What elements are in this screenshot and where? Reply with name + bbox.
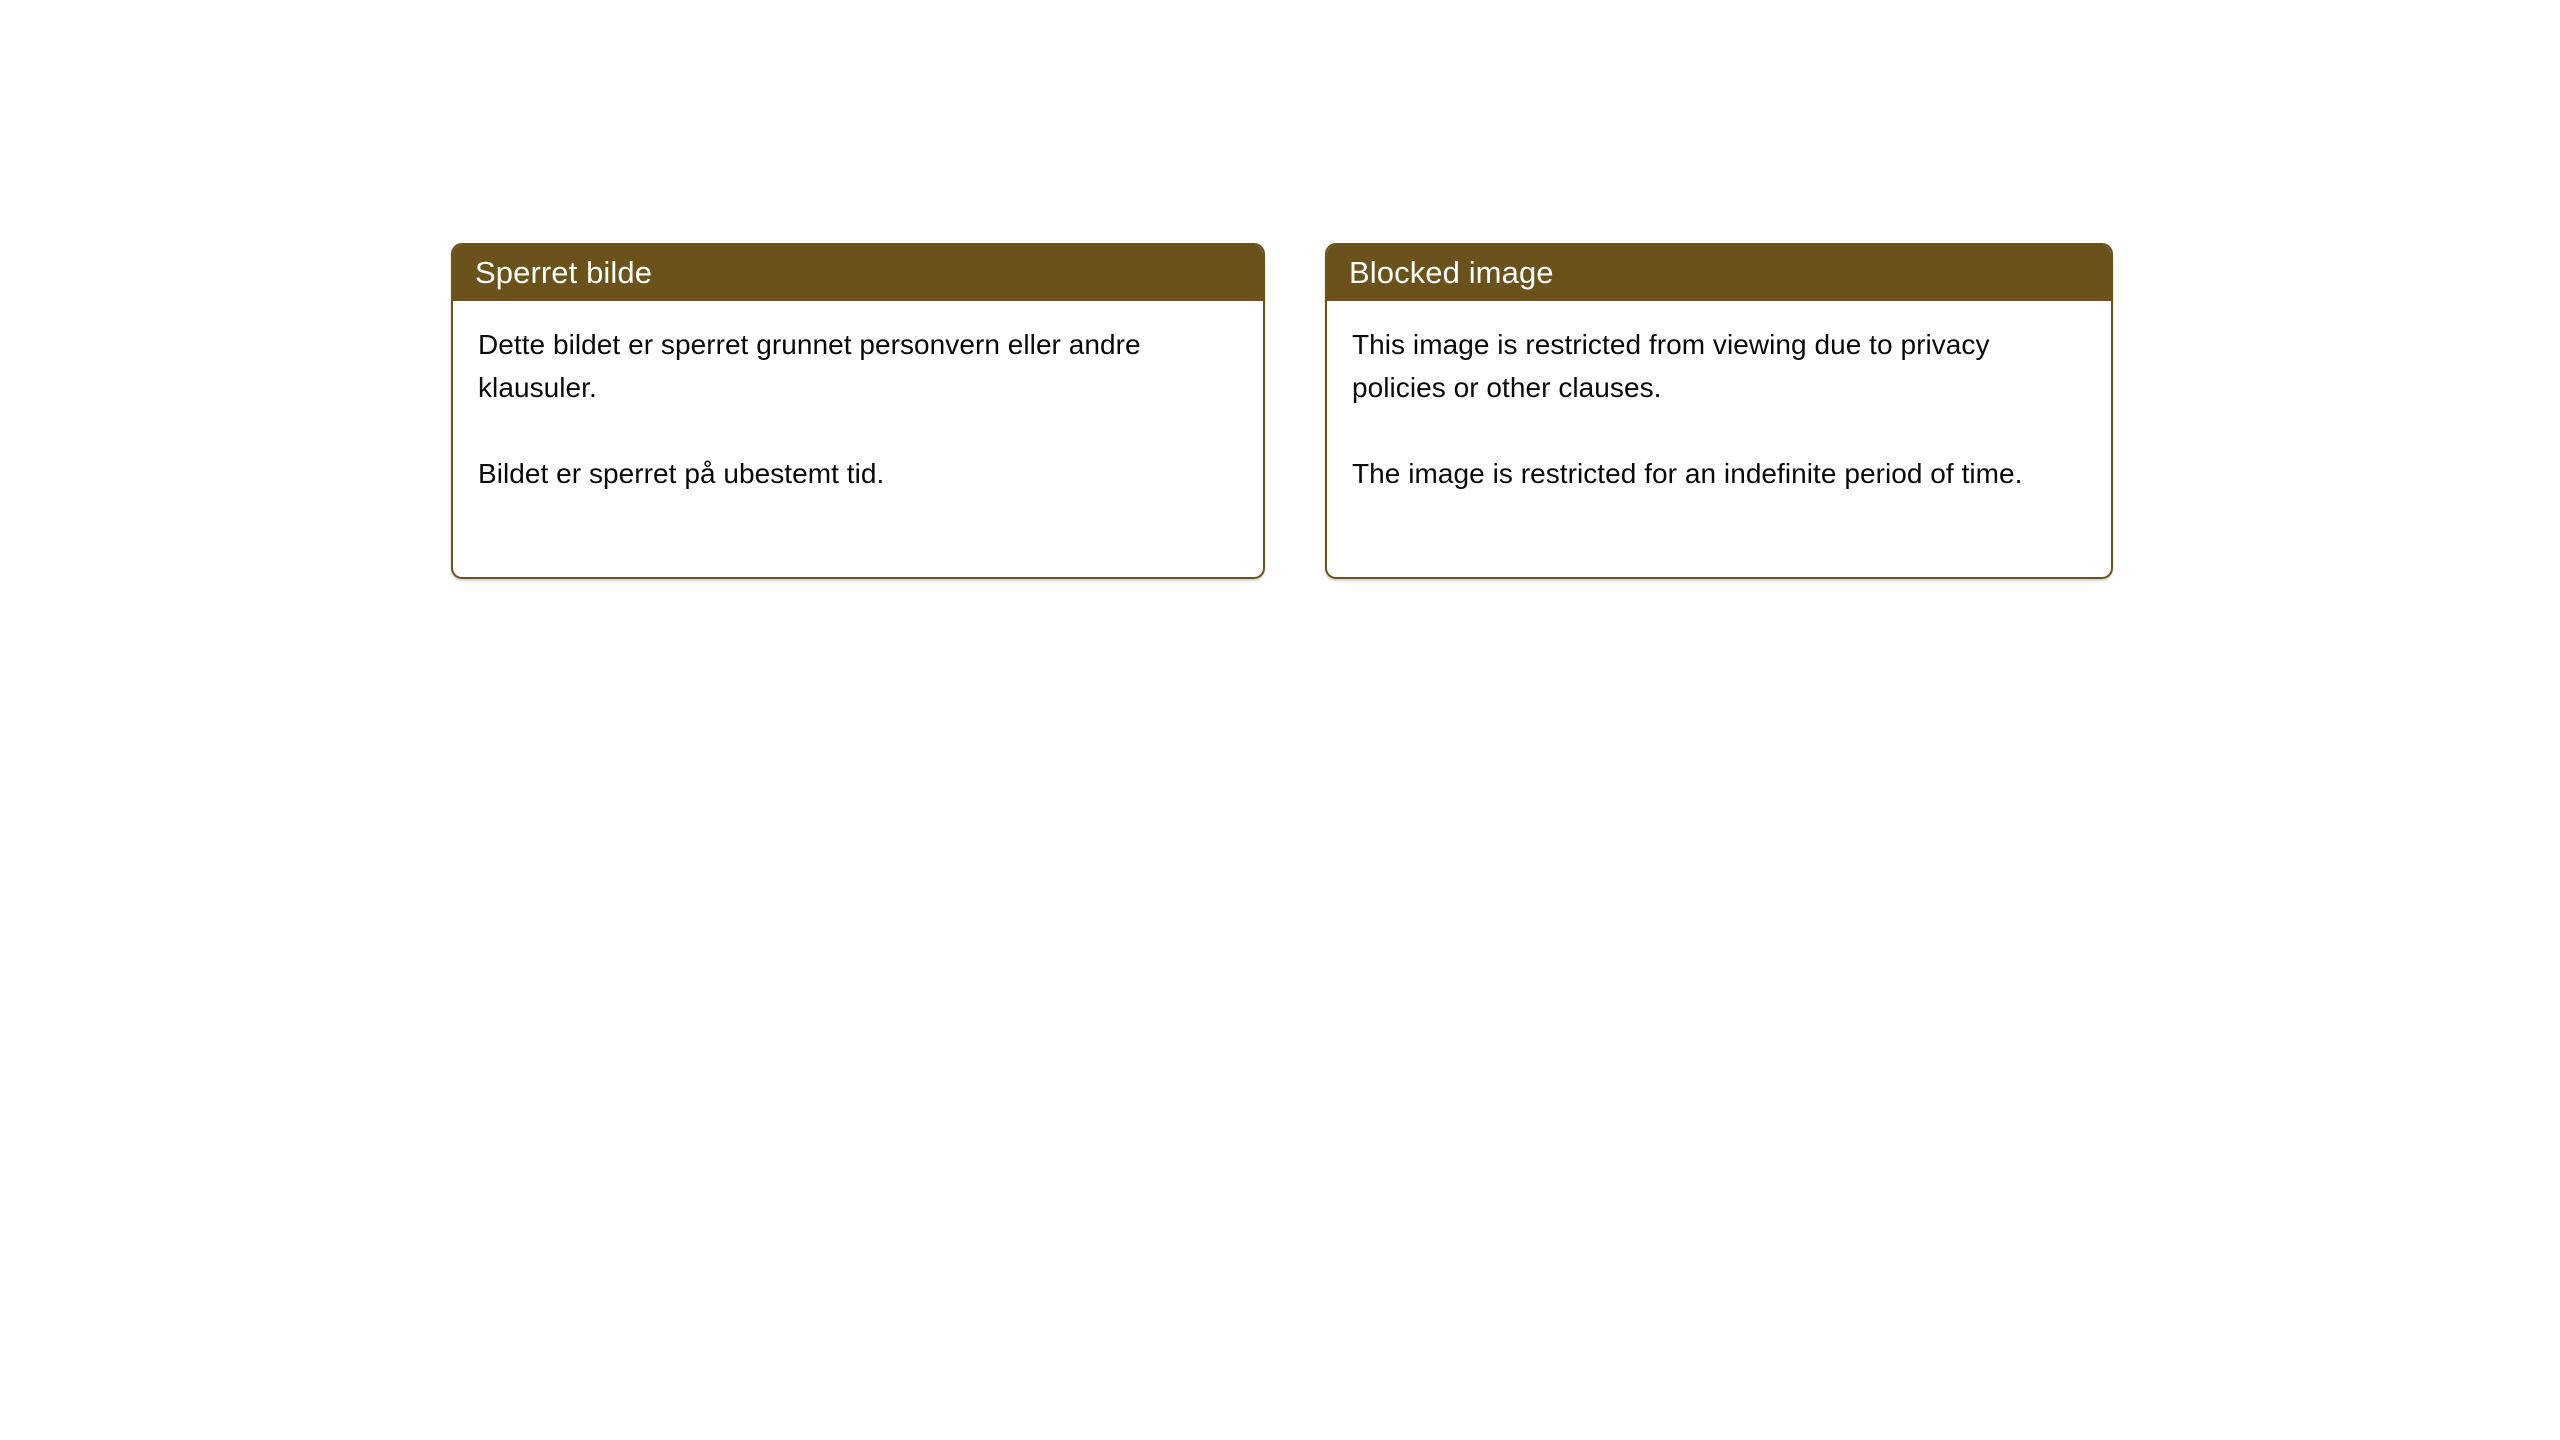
card-paragraph-duration-norwegian: Bildet er sperret på ubestemt tid. xyxy=(478,452,1239,495)
card-title-norwegian: Sperret bilde xyxy=(475,255,652,291)
card-paragraph-duration-english: The image is restricted for an indefinit… xyxy=(1352,452,2087,495)
card-body-norwegian: Dette bildet er sperret grunnet personve… xyxy=(453,301,1263,495)
card-paragraph-reason-norwegian: Dette bildet er sperret grunnet personve… xyxy=(478,323,1239,409)
notice-stage: Sperret bilde Dette bildet er sperret gr… xyxy=(0,0,2560,1440)
blocked-image-notice-card-english: Blocked image This image is restricted f… xyxy=(1325,243,2113,579)
card-title-english: Blocked image xyxy=(1349,255,1554,291)
card-header-norwegian: Sperret bilde xyxy=(453,245,1263,301)
blocked-image-notice-card-norwegian: Sperret bilde Dette bildet er sperret gr… xyxy=(451,243,1265,579)
card-body-english: This image is restricted from viewing du… xyxy=(1327,301,2111,495)
card-header-english: Blocked image xyxy=(1327,245,2111,301)
card-paragraph-reason-english: This image is restricted from viewing du… xyxy=(1352,323,2087,409)
